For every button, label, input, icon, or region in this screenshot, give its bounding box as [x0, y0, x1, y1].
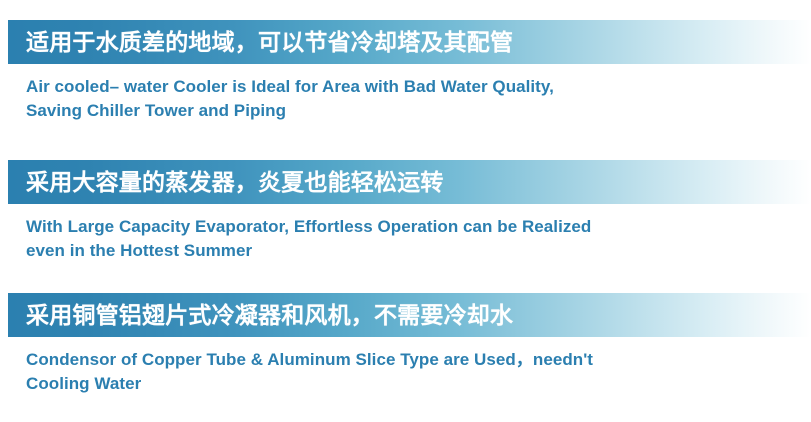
headline-text-1: 适用于水质差的地域，可以节省冷却塔及其配管: [26, 31, 513, 54]
headline-bar-1: 适用于水质差的地域，可以节省冷却塔及其配管: [8, 20, 811, 64]
headline-text-2: 采用大容量的蒸发器，炎夏也能轻松运转: [26, 171, 444, 194]
subtitle-line: Cooling Water: [26, 372, 786, 396]
headline-text-3: 采用铜管铝翅片式冷凝器和风机，不需要冷却水: [26, 304, 513, 327]
headline-bar-3: 采用铜管铝翅片式冷凝器和风机，不需要冷却水: [8, 293, 811, 337]
headline-bar-2: 采用大容量的蒸发器，炎夏也能轻松运转: [8, 160, 811, 204]
subtitle-line: Condensor of Copper Tube & Aluminum Slic…: [26, 348, 786, 372]
feature-highlights-page: 适用于水质差的地域，可以节省冷却塔及其配管 Air cooled– water …: [0, 0, 811, 422]
subtitle-line: With Large Capacity Evaporator, Effortle…: [26, 215, 786, 239]
feature-block-2: 采用大容量的蒸发器，炎夏也能轻松运转 With Large Capacity E…: [0, 160, 811, 263]
subtitle-3: Condensor of Copper Tube & Aluminum Slic…: [26, 348, 786, 396]
subtitle-line: Air cooled– water Cooler is Ideal for Ar…: [26, 75, 786, 99]
subtitle-line: Saving Chiller Tower and Piping: [26, 99, 786, 123]
subtitle-1: Air cooled– water Cooler is Ideal for Ar…: [26, 75, 786, 123]
subtitle-line: even in the Hottest Summer: [26, 239, 786, 263]
feature-block-1: 适用于水质差的地域，可以节省冷却塔及其配管 Air cooled– water …: [0, 20, 811, 123]
subtitle-2: With Large Capacity Evaporator, Effortle…: [26, 215, 786, 263]
feature-block-3: 采用铜管铝翅片式冷凝器和风机，不需要冷却水 Condensor of Coppe…: [0, 293, 811, 396]
